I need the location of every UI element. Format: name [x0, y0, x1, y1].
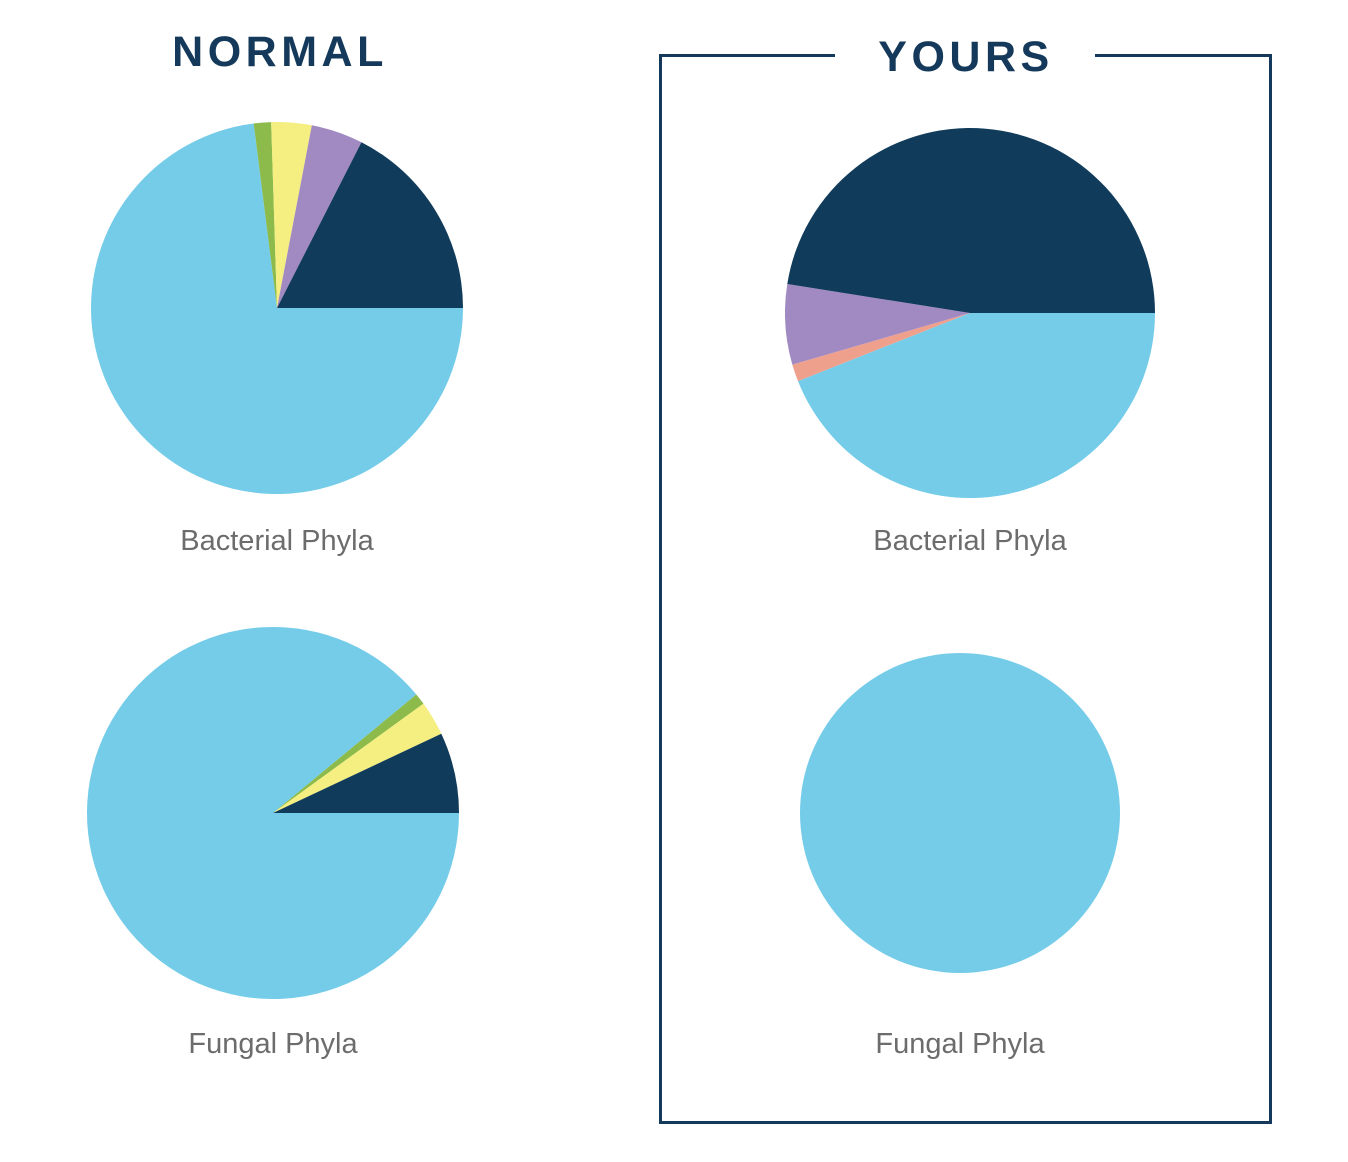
pie-slice: [787, 128, 1155, 313]
pie-label-normal-fungal: Fungal Phyla: [87, 1028, 459, 1061]
pie-label-yours-bacterial: Bacterial Phyla: [785, 525, 1155, 558]
pie-slice: [800, 653, 1120, 973]
comparison-figure: NORMAL YOURS Bacterial Phyla Bacterial P…: [0, 0, 1348, 1162]
pie-chart-normal-fungal: [87, 627, 459, 999]
pie-label-normal-bacterial: Bacterial Phyla: [91, 525, 463, 558]
column-title-yours: YOURS: [659, 33, 1273, 82]
pie-svg-normal-bacterial: [91, 122, 463, 494]
pie-svg-normal-fungal: [87, 627, 459, 999]
pie-svg-yours-fungal: [800, 653, 1120, 973]
pie-chart-normal-bacterial: [91, 122, 463, 494]
column-title-normal: NORMAL: [0, 28, 560, 77]
pie-chart-yours-fungal: [800, 653, 1120, 973]
pie-label-yours-fungal: Fungal Phyla: [800, 1028, 1120, 1061]
pie-chart-yours-bacterial: [785, 128, 1155, 498]
pie-svg-yours-bacterial: [785, 128, 1155, 498]
